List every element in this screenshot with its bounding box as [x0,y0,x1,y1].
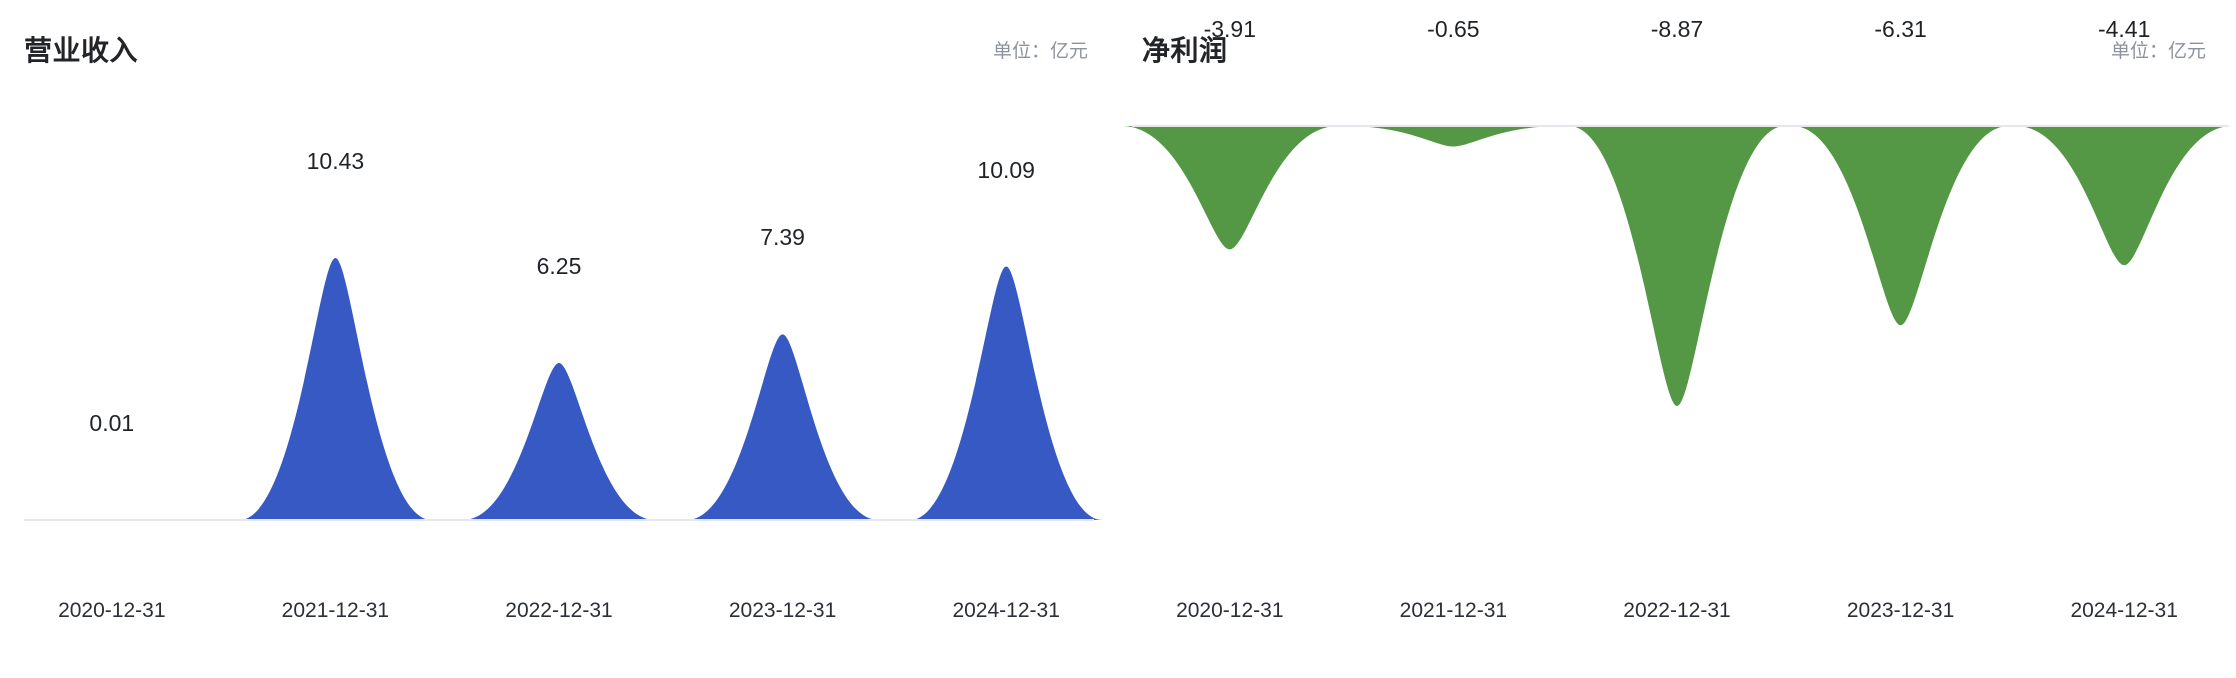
chart-revenue-plot [0,78,1118,598]
axis-label-revenue-1: 2021-12-31 [224,596,448,626]
page-title-revenue: 营业收入 [24,37,138,65]
unit-label-revenue: 单位：亿元 [993,42,1088,61]
axis-label-net-profit-1: 2021-12-31 [1342,596,1566,626]
axis-label-revenue-4: 2024-12-31 [894,596,1118,626]
chart-revenue-axis-labels: 2020-12-31 2021-12-31 2022-12-31 2023-12… [0,596,1118,626]
chart-net-profit-series [1118,126,2236,406]
chart-net-profit-plot [1118,78,2236,598]
axis-label-revenue-0: 2020-12-31 [0,596,224,626]
axis-label-net-profit-4: 2024-12-31 [2012,596,2236,626]
panel-net-profit-header: 净利润 单位：亿元 [1118,0,2236,80]
dual-chart-board: 营业收入 单位：亿元 0.0110.436.257.3910.09 2020-1… [0,0,2236,678]
axis-label-net-profit-0: 2020-12-31 [1118,596,1342,626]
panel-revenue-header: 营业收入 单位：亿元 [0,0,1118,80]
axis-label-net-profit-2: 2022-12-31 [1565,596,1789,626]
chart-revenue-svg [0,78,1118,598]
axis-label-revenue-2: 2022-12-31 [447,596,671,626]
page-title-net-profit: 净利润 [1142,37,1228,65]
chart-revenue-series [0,258,1118,520]
chart-net-profit-axis-labels: 2020-12-31 2021-12-31 2022-12-31 2023-12… [1118,596,2236,626]
axis-label-net-profit-3: 2023-12-31 [1789,596,2013,626]
unit-label-net-profit: 单位：亿元 [2111,42,2206,61]
panel-revenue: 营业收入 单位：亿元 0.0110.436.257.3910.09 2020-1… [0,0,1118,678]
axis-label-revenue-3: 2023-12-31 [671,596,895,626]
chart-net-profit-svg [1118,78,2236,598]
panel-net-profit: 净利润 单位：亿元 -3.91-0.65-8.87-6.31-4.41 2020… [1118,0,2236,678]
